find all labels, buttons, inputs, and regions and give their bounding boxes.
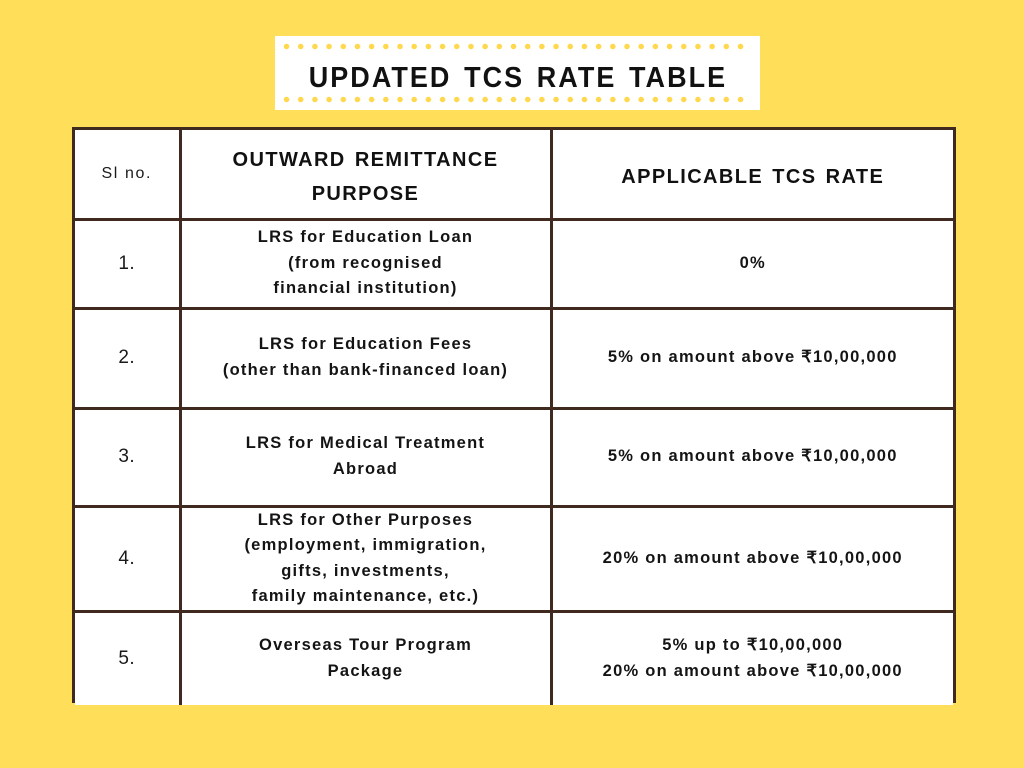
sl-number: 2. <box>118 347 135 368</box>
rate-text: 5% on amount above ₹10,00,000 <box>553 345 954 371</box>
purpose-text: LRS for Other Purposes (employment, immi… <box>182 508 550 610</box>
cell-sl: 4. <box>75 506 180 611</box>
cell-purpose: LRS for Education Fees (other than bank-… <box>180 308 551 408</box>
purpose-line: LRS for Medical Treatment <box>192 431 540 457</box>
cell-rate: 0% <box>551 219 953 308</box>
rate-text: 0% <box>553 251 954 277</box>
rate-line: 5% on amount above ₹10,00,000 <box>563 444 944 470</box>
purpose-line: Overseas Tour Program <box>192 633 540 659</box>
page-title: Updated TCS Rate Table <box>308 53 726 94</box>
purpose-line: financial institution) <box>192 276 540 302</box>
purpose-text: LRS for Education Fees (other than bank-… <box>182 332 550 383</box>
purpose-text: LRS for Medical Treatment Abroad <box>182 431 550 482</box>
column-header-rate-label: Applicable TCS Rate <box>553 157 954 191</box>
cell-purpose: LRS for Education Loan (from recognised … <box>180 219 551 308</box>
cell-rate: 5% up to ₹10,00,000 20% on amount above … <box>551 611 953 705</box>
purpose-text: LRS for Education Loan (from recognised … <box>182 225 550 302</box>
purpose-text: Overseas Tour Program Package <box>182 633 550 684</box>
rate-line: 5% on amount above ₹10,00,000 <box>563 345 944 371</box>
purpose-line: Package <box>192 659 540 685</box>
table-row: 1. LRS for Education Loan (from recognis… <box>75 219 953 308</box>
table-row: 5. Overseas Tour Program Package 5% up t… <box>75 611 953 705</box>
cell-rate: 20% on amount above ₹10,00,000 <box>551 506 953 611</box>
rate-line: 5% up to ₹10,00,000 <box>563 633 944 659</box>
cell-sl: 5. <box>75 611 180 705</box>
rate-text: 5% on amount above ₹10,00,000 <box>553 444 954 470</box>
purpose-line: LRS for Education Fees <box>192 332 540 358</box>
cell-sl: 1. <box>75 219 180 308</box>
title-card: Updated TCS Rate Table <box>272 36 763 110</box>
purpose-line: family maintenance, etc.) <box>192 584 540 610</box>
dotted-border-bottom-icon <box>283 96 752 103</box>
table-row: 2. LRS for Education Fees (other than ba… <box>75 308 953 408</box>
column-header-purpose-label: Outward Remittance Purpose <box>182 140 550 208</box>
column-header-purpose: Outward Remittance Purpose <box>180 130 551 219</box>
rate-line: 20% on amount above ₹10,00,000 <box>563 659 944 685</box>
cell-sl: 2. <box>75 308 180 408</box>
column-header-sl-label: Sl no. <box>101 165 152 182</box>
sl-number: 3. <box>118 446 135 467</box>
cell-purpose: LRS for Medical Treatment Abroad <box>180 408 551 506</box>
purpose-line: (from recognised <box>192 251 540 277</box>
rate-text: 20% on amount above ₹10,00,000 <box>553 546 954 572</box>
purpose-line: (employment, immigration, <box>192 533 540 559</box>
column-header-rate: Applicable TCS Rate <box>551 130 953 219</box>
cell-purpose: LRS for Other Purposes (employment, immi… <box>180 506 551 611</box>
sl-number: 5. <box>118 648 135 669</box>
sl-number: 1. <box>118 253 135 274</box>
cell-rate: 5% on amount above ₹10,00,000 <box>551 308 953 408</box>
rate-line: 20% on amount above ₹10,00,000 <box>563 546 944 572</box>
tcs-rate-table: Sl no. Outward Remittance Purpose Applic… <box>72 127 956 703</box>
table-header-row: Sl no. Outward Remittance Purpose Applic… <box>75 130 953 219</box>
rate-text: 5% up to ₹10,00,000 20% on amount above … <box>553 633 954 684</box>
table-row: 3. LRS for Medical Treatment Abroad 5% o… <box>75 408 953 506</box>
table-row: 4. LRS for Other Purposes (employment, i… <box>75 506 953 611</box>
purpose-line: LRS for Education Loan <box>192 225 540 251</box>
purpose-line: (other than bank-financed loan) <box>192 358 540 384</box>
cell-sl: 3. <box>75 408 180 506</box>
purpose-line: Abroad <box>192 457 540 483</box>
cell-rate: 5% on amount above ₹10,00,000 <box>551 408 953 506</box>
purpose-line: gifts, investments, <box>192 559 540 585</box>
cell-purpose: Overseas Tour Program Package <box>180 611 551 705</box>
column-header-sl: Sl no. <box>75 130 180 219</box>
sl-number: 4. <box>118 548 135 569</box>
purpose-line: LRS for Other Purposes <box>192 508 540 534</box>
rate-line: 0% <box>563 251 944 277</box>
